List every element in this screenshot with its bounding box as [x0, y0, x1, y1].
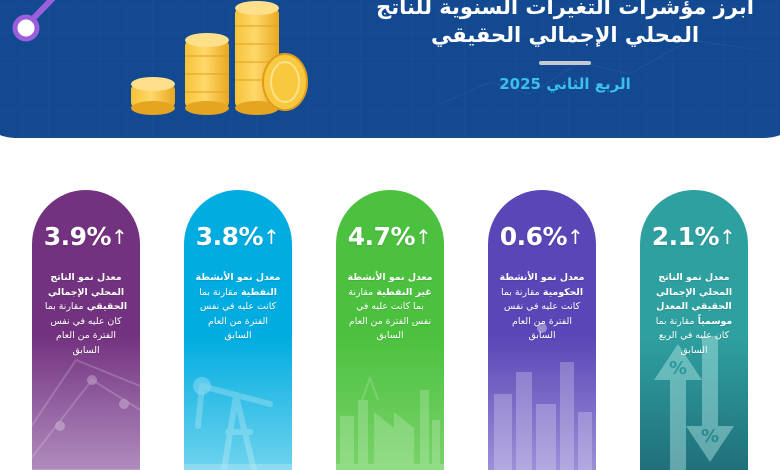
stat-description: معدل نمو الأنشطة النفطية مقارنة بما كانت…: [194, 271, 282, 344]
page-title-line-1: أبرز مؤشرات التغيرات السنوية للناتج: [350, 0, 780, 22]
stat-percentage: 3.9%: [44, 222, 111, 251]
stat-value: 4.7%↑: [336, 224, 444, 249]
header-subtitle: الربع الثاني 2025: [350, 75, 780, 93]
stat-card[interactable]: 4.7%↑معدل نمو الأنشطة غير النفطية مقارنة…: [336, 190, 444, 470]
stat-value: 3.9%↑: [32, 224, 140, 249]
header-title-block: أبرز مؤشرات التغيرات السنوية للناتج المح…: [350, 0, 780, 93]
coin-stack-icon: [125, 0, 315, 118]
trend-up-arrow-icon: ↑: [567, 225, 583, 249]
stat-description: معدل نمو الأنشطة غير النفطية مقارنة بما …: [346, 271, 434, 344]
trend-up-arrow-icon: ↑: [415, 225, 431, 249]
trend-up-arrow-icon: ↑: [263, 225, 279, 249]
trend-up-arrow-icon: ↑: [111, 225, 127, 249]
trend-up-arrow-icon: ↑: [719, 225, 735, 249]
stat-percentage: 0.6%: [500, 222, 567, 251]
stat-card[interactable]: 0.6%↑معدل نمو الأنشطة الحكومية مقارنة بم…: [488, 190, 596, 470]
page-title-line-2: المحلي الإجمالي الحقيقي: [350, 22, 780, 50]
stat-value: 2.1%↑: [640, 224, 748, 249]
stat-card-list: % % 2.1%↑معدل نمو الناتج المحلي الإجمالي…: [0, 190, 780, 470]
stat-description: معدل نمو الأنشطة الحكومية مقارنة بما كان…: [498, 271, 586, 344]
stat-card[interactable]: 3.8%↑معدل نمو الأنشطة النفطية مقارنة بما…: [184, 190, 292, 470]
header-banner: GDP: [0, 0, 780, 138]
stat-description: معدل نمو الناتج المحلي الإجمالي الحقيقي …: [42, 271, 130, 358]
svg-text:%: %: [669, 358, 687, 379]
stat-card[interactable]: % % 2.1%↑معدل نمو الناتج المحلي الإجمالي…: [640, 190, 748, 470]
stat-percentage: 4.7%: [348, 222, 415, 251]
stat-description: معدل نمو الناتج المحلي الإجمالي الحقيقي …: [650, 271, 738, 358]
stat-value: 3.8%↑: [184, 224, 292, 249]
title-divider: [539, 61, 591, 65]
stat-percentage: 3.8%: [196, 222, 263, 251]
stat-value: 0.6%↑: [488, 224, 596, 249]
stat-percentage: 2.1%: [652, 222, 719, 251]
stat-card[interactable]: 3.9%↑معدل نمو الناتج المحلي الإجمالي الح…: [32, 190, 140, 470]
svg-text:%: %: [701, 426, 719, 447]
